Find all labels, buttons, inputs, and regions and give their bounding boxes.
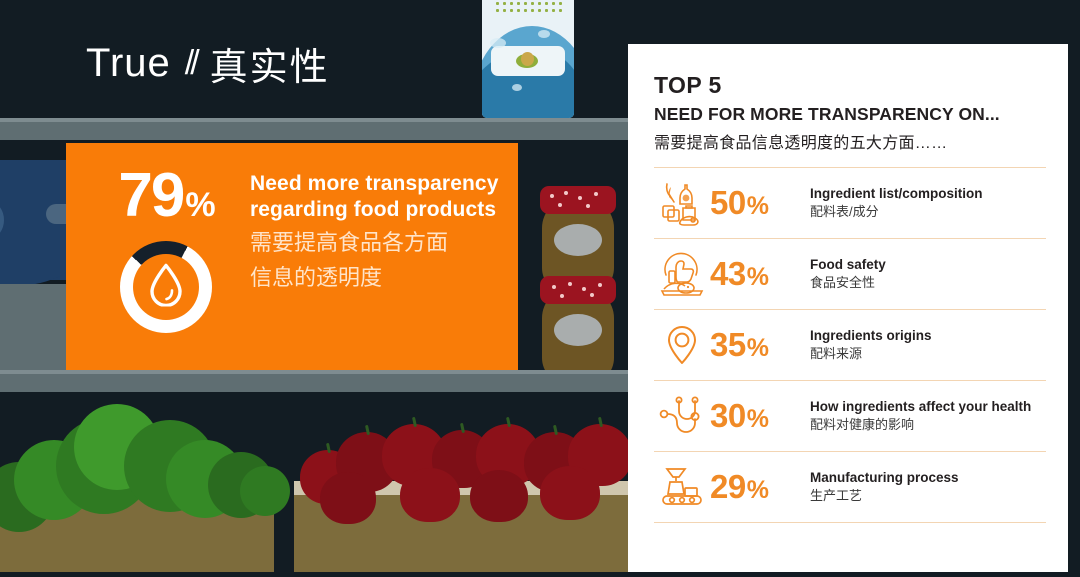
jar-label — [554, 224, 602, 256]
percent-value: 35 — [710, 326, 746, 364]
percent-symbol: % — [747, 476, 769, 505]
list-item-label-cn: 生产工艺 — [810, 488, 1046, 504]
package-dot-pattern — [494, 0, 564, 12]
percent-symbol: % — [747, 263, 769, 292]
list-item-labels: Food safety 食品安全性 — [810, 257, 1046, 291]
list-item-label-cn: 配料表/成分 — [810, 204, 1046, 220]
groceries-icon — [654, 180, 710, 226]
shelf-lip — [0, 118, 632, 122]
highlight-text-cn-1: 需要提高食品各方面 — [250, 228, 498, 257]
top5-subheading-cn: 需要提高食品信息透明度的五大方面…… — [654, 129, 1046, 153]
percent-value: 43 — [710, 255, 746, 293]
percent-symbol: % — [747, 192, 769, 221]
jar-lid — [540, 276, 616, 304]
title-separator: // — [185, 44, 196, 83]
list-item-labels: Ingredients origins 配料来源 — [810, 328, 1046, 362]
list-item-label-cn: 食品安全性 — [810, 275, 1046, 291]
blue-package — [482, 0, 574, 118]
water-drop-icon — [146, 260, 186, 311]
shelf-middle — [0, 370, 632, 392]
list-item-percent: 50 % — [710, 184, 810, 222]
top5-heading: TOP 5 — [654, 74, 1046, 97]
shelf-lip — [0, 370, 632, 374]
percent-symbol: % — [747, 334, 769, 363]
package-bubble — [538, 30, 550, 38]
jar-lid — [540, 186, 616, 214]
top5-subheading-en: NEED FOR MORE TRANSPARENCY ON... — [654, 104, 1046, 124]
conveyor-belt-icon — [654, 464, 710, 510]
thumbs-up-food-icon — [654, 251, 710, 297]
jar-label — [554, 314, 602, 346]
highlight-text-en-1: Need more transparency — [250, 171, 498, 197]
list-item[interactable]: 35 % Ingredients origins 配料来源 — [654, 309, 1046, 380]
package-ring-icon — [0, 198, 4, 242]
list-item[interactable]: 29 % Manufacturing process 生产工艺 — [654, 451, 1046, 523]
list-item-percent: 30 % — [710, 397, 810, 435]
list-item-percent: 35 % — [710, 326, 810, 364]
list-item[interactable]: 43 % Food safety 食品安全性 — [654, 238, 1046, 309]
package-seal-inner-icon — [521, 52, 534, 66]
percent-symbol: % — [747, 405, 769, 434]
list-item-label-en: How ingredients affect your health — [810, 399, 1046, 415]
highlight-percent-symbol: % — [185, 188, 213, 222]
highlight-stat-block: 79 % — [92, 165, 240, 333]
percent-value: 29 — [710, 468, 746, 506]
package-bubble — [512, 84, 522, 91]
title-cn: 真实性 — [210, 36, 330, 91]
slide-right-edge — [1068, 0, 1080, 577]
list-item-percent: 29 % — [710, 468, 810, 506]
highlight-text-block: Need more transparency regarding food pr… — [250, 165, 498, 292]
list-item[interactable]: 50 % Ingredient list/composition 配料表/成分 — [654, 167, 1046, 238]
list-item-label-cn: 配料来源 — [810, 346, 1046, 362]
donut-chart — [120, 241, 212, 333]
list-item-labels: Ingredient list/composition 配料表/成分 — [810, 186, 1046, 220]
list-item-label-en: Food safety — [810, 257, 1046, 273]
percent-value: 50 — [710, 184, 746, 222]
highlight-percent: 79 % — [118, 165, 213, 227]
percent-value: 30 — [710, 397, 746, 435]
list-item-labels: Manufacturing process 生产工艺 — [810, 470, 1046, 504]
stethoscope-icon — [654, 393, 710, 439]
list-item-labels: How ingredients affect your health 配料对健康… — [810, 399, 1046, 433]
highlight-panel: 79 % Need more transparency regarding fo… — [66, 143, 518, 370]
title-en: True — [86, 41, 171, 86]
slide-bottom-edge — [0, 572, 1080, 577]
list-item-label-en: Manufacturing process — [810, 470, 1046, 486]
page-title: True // 真实性 — [86, 36, 330, 91]
shelf-top — [0, 118, 632, 140]
top5-panel: TOP 5 NEED FOR MORE TRANSPARENCY ON... 需… — [628, 44, 1068, 577]
list-item-label-en: Ingredient list/composition — [810, 186, 1046, 202]
highlight-percent-value: 79 — [118, 165, 183, 227]
list-item-label-cn: 配料对健康的影响 — [810, 417, 1046, 433]
top5-list: 50 % Ingredient list/composition 配料表/成分 — [654, 167, 1046, 523]
highlight-text-cn-2: 信息的透明度 — [250, 263, 498, 292]
package-bubble — [490, 38, 506, 48]
list-item-percent: 43 % — [710, 255, 810, 293]
location-pin-icon — [654, 322, 710, 368]
infographic-slide: True // 真实性 79 % — [0, 0, 1080, 577]
list-item-label-en: Ingredients origins — [810, 328, 1046, 344]
highlight-text-en-2: regarding food products — [250, 197, 498, 223]
list-item[interactable]: 30 % How ingredients affect your health … — [654, 380, 1046, 451]
